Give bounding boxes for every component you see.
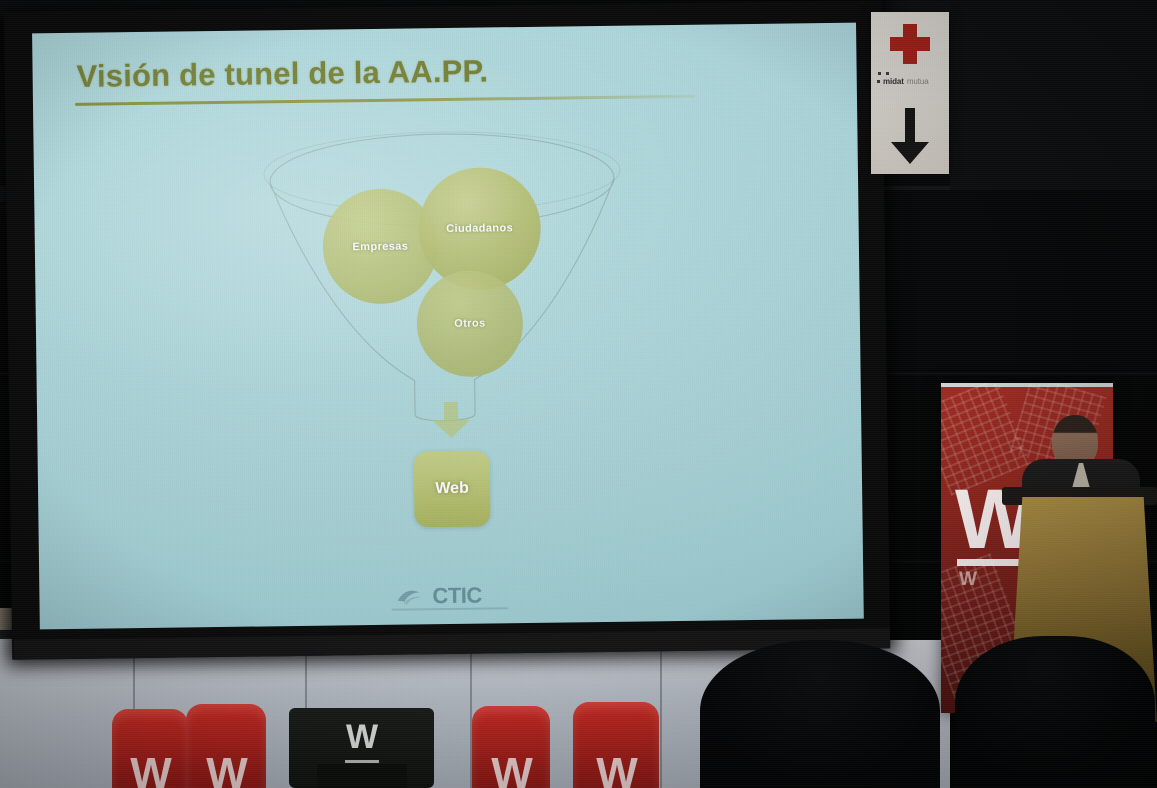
bubble-otros-label: Otros (454, 318, 485, 330)
banner-logo-letter-small: W (959, 569, 977, 591)
dark-seat-base (317, 764, 407, 788)
banner-top-rail (941, 383, 1113, 387)
sign-dot (877, 80, 880, 83)
presentation-slide: Visión de tunel de la AA.PP. (32, 23, 864, 630)
wall-seam (660, 636, 662, 788)
bubble-ciudadanos-label: Ciudadanos (446, 222, 513, 235)
audience-silhouette (955, 636, 1155, 788)
red-pouf-seat: W (186, 704, 266, 788)
projection-screen: Visión de tunel de la AA.PP. (4, 0, 892, 661)
dark-wall-mid-right (878, 190, 1157, 370)
sign-brand-subname: mutua (907, 77, 929, 86)
sign-dot (886, 72, 889, 75)
red-pouf-seat: W (112, 709, 188, 788)
sign-name-row: midat mutua (877, 77, 945, 86)
conference-photo-scene: Visión de tunel de la AA.PP. (0, 0, 1157, 788)
dark-seat: W (289, 708, 434, 788)
title-underline (75, 95, 695, 106)
pouf-logo-letter: W (596, 754, 636, 788)
ctic-logo-underline (392, 607, 508, 611)
red-pouf-seat: W (573, 702, 659, 788)
midat-mutua-sign: midat mutua (871, 12, 949, 174)
sign-brand-name: midat (883, 77, 904, 86)
dark-wall-upper-right (950, 0, 1157, 190)
ctic-swoosh-icon (395, 586, 429, 606)
pouf-logo-letter: W (206, 754, 246, 788)
web-output-label: Web (435, 480, 469, 498)
sign-dots-row (878, 72, 945, 75)
dark-seat-logo-letter: W (346, 720, 377, 754)
dark-seat-logo-underline (345, 760, 379, 763)
ctic-logo-text: CTIC (432, 583, 482, 610)
ctic-logo: CTIC (395, 583, 482, 610)
web-output-box: Web (414, 450, 491, 527)
slide-title: Visión de tunel de la AA.PP. (76, 53, 488, 94)
audience-silhouette (700, 640, 940, 788)
sign-down-arrow-icon (889, 108, 931, 164)
screen-frame: Visión de tunel de la AA.PP. (4, 0, 890, 659)
pouf-logo-letter: W (130, 754, 170, 788)
bubble-empresas-label: Empresas (352, 240, 408, 253)
pouf-logo-letter: W (491, 754, 531, 788)
down-arrow-icon (430, 400, 473, 441)
red-pouf-seat: W (472, 706, 550, 788)
sign-dot (878, 72, 881, 75)
sign-brand-block: midat mutua (877, 72, 945, 86)
red-cross-icon (888, 22, 932, 66)
